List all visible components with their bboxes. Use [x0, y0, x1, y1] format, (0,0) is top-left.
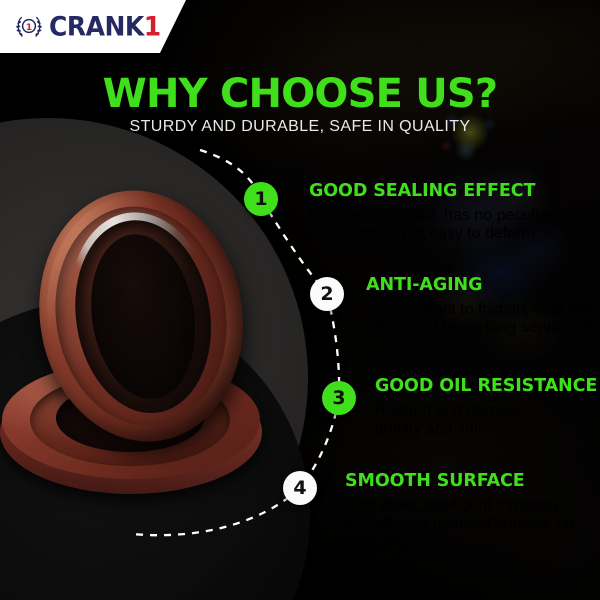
- feature-1-body-line-1: It is easy to install, has no peculiar: [309, 207, 553, 225]
- feature-2-title: ANTI-AGING: [366, 277, 596, 295]
- feature-4-body-line-3: edge thorns.: [345, 533, 574, 551]
- feature-item-4: SMOOTH SURFACE Fine mold, intelligent tr…: [345, 473, 574, 567]
- page-subtitle: STURDY AND DURABLE, SAFE IN QUALITY: [0, 119, 600, 135]
- feature-badge-2-number: 2: [320, 285, 333, 304]
- feature-4-body-line-1: Fine mold, intelligent trimming,: [345, 497, 574, 515]
- feature-4-body-line-2: smooth and textured surface, no: [345, 515, 574, 533]
- feature-badge-4[interactable]: 4: [283, 471, 317, 505]
- feature-2-body-line-2: alkali, and has a long service life: [366, 319, 596, 337]
- feature-item-3: GOOD OIL RESISTANCE Rugged and durable, …: [375, 378, 597, 454]
- brand-wordmark: CRANK1: [49, 13, 161, 40]
- page-title: WHY CHOOSE US?: [0, 74, 600, 114]
- brand-logo-banner[interactable]: 1 CRANK1: [0, 0, 186, 53]
- feature-badge-1-number: 1: [254, 190, 267, 209]
- brand-wordmark-text: CRANK: [49, 11, 144, 42]
- feature-item-1: GOOD SEALING EFFECT It is easy to instal…: [309, 183, 553, 259]
- laurel-wreath-icon: 1: [14, 12, 44, 42]
- feature-3-body-line-2: quality and safe.: [375, 420, 597, 438]
- feature-item-2: ANTI-AGING It is resistant to friction, …: [366, 277, 596, 353]
- svg-text:1: 1: [26, 23, 32, 33]
- feature-3-title: GOOD OIL RESISTANCE: [375, 378, 597, 396]
- feature-badge-1[interactable]: 1: [244, 182, 278, 216]
- feature-1-body-line-2: smell, and is not easy to deform.: [309, 225, 553, 243]
- feature-2-body-line-1: It is resistant to friction, acid and: [366, 301, 596, 319]
- feature-1-title: GOOD SEALING EFFECT: [309, 183, 553, 201]
- feature-badge-4-number: 4: [293, 479, 306, 498]
- feature-4-title: SMOOTH SURFACE: [345, 473, 574, 491]
- feature-badge-3[interactable]: 3: [322, 381, 356, 415]
- oil-seal-upright: [22, 176, 261, 456]
- feature-badge-3-number: 3: [332, 389, 345, 408]
- feature-3-body-line-1: Rugged and durable,: [375, 402, 597, 420]
- feature-badge-2[interactable]: 2: [310, 277, 344, 311]
- brand-wordmark-one: 1: [144, 11, 161, 42]
- product-image-oil-seals: [0, 182, 280, 518]
- why-choose-us-poster: 1 CRANK1 WHY CHOOSE US? STU: [0, 0, 600, 600]
